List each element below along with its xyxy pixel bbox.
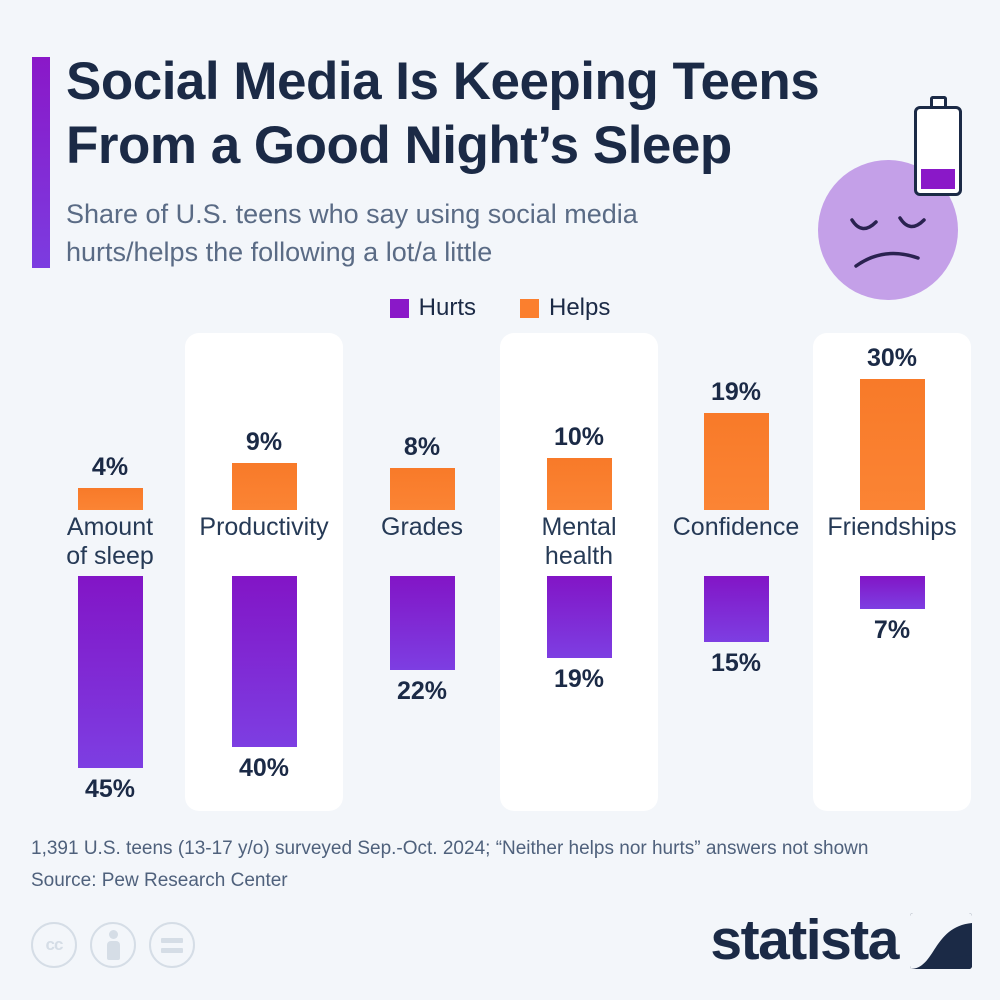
page-subtitle: Share of U.S. teens who say using social…	[66, 195, 796, 271]
helps-value-label: 30%	[867, 343, 917, 373]
helps-bar[interactable]	[390, 468, 455, 510]
helps-bar[interactable]	[704, 413, 769, 510]
hurts-bar[interactable]	[547, 576, 612, 658]
category-label: Friendships	[827, 513, 956, 542]
category-label-zone: Mental health	[500, 513, 658, 575]
helps-value-label: 10%	[554, 422, 604, 452]
statista-logo[interactable]: statista	[710, 912, 972, 969]
creative-commons-badges: cc	[31, 922, 195, 968]
chart-column-confidence[interactable]: 19% Confidence 15%	[657, 333, 815, 811]
chart-legend: Hurts Helps	[0, 294, 1000, 322]
subtitle-line-1: Share of U.S. teens who say using social…	[66, 195, 796, 233]
helps-zone: 19%	[657, 333, 815, 510]
hurts-value-label: 45%	[85, 774, 135, 804]
page-title: Social Media Is Keeping Teens From a Goo…	[66, 50, 916, 178]
hurts-bar[interactable]	[232, 576, 297, 747]
cc-icon[interactable]: cc	[31, 922, 77, 968]
title-accent-bar	[32, 57, 50, 268]
category-label: Productivity	[199, 513, 328, 542]
category-label-zone: Friendships	[813, 513, 971, 575]
legend-label-helps: Helps	[549, 294, 610, 322]
battery-cap-icon	[930, 96, 947, 106]
category-label-zone: Grades	[343, 513, 501, 575]
legend-swatch-helps-icon	[520, 299, 539, 318]
helps-bar[interactable]	[78, 488, 143, 510]
legend-label-hurts: Hurts	[419, 294, 476, 322]
category-label: Amount of sleep	[66, 513, 154, 571]
statista-wordmark: statista	[710, 912, 898, 969]
statista-mark-icon	[910, 913, 972, 969]
hurts-value-label: 40%	[239, 753, 289, 783]
category-label-zone: Confidence	[657, 513, 815, 575]
helps-bar[interactable]	[232, 463, 297, 510]
helps-bar[interactable]	[860, 379, 925, 510]
chart-column-amount-of-sleep[interactable]: 4% Amount of sleep 45%	[31, 333, 189, 811]
category-label: Mental health	[541, 513, 616, 571]
cc-by-attribution-icon[interactable]	[90, 922, 136, 968]
footnote: 1,391 U.S. teens (13-17 y/o) surveyed Se…	[31, 833, 981, 897]
hurts-value-label: 15%	[711, 648, 761, 678]
footnote-line-1: 1,391 U.S. teens (13-17 y/o) surveyed Se…	[31, 833, 981, 865]
hurts-value-label: 19%	[554, 664, 604, 694]
category-label: Confidence	[673, 513, 799, 542]
helps-zone: 30%	[813, 333, 971, 510]
category-label-zone: Productivity	[185, 513, 343, 575]
hurts-bar[interactable]	[78, 576, 143, 768]
helps-zone: 10%	[500, 333, 658, 510]
title-line-1: Social Media Is Keeping Teens	[66, 50, 916, 114]
illustration	[808, 100, 998, 300]
helps-value-label: 4%	[92, 452, 128, 482]
category-label-zone: Amount of sleep	[31, 513, 189, 575]
legend-item-hurts[interactable]: Hurts	[390, 294, 476, 322]
helps-value-label: 19%	[711, 377, 761, 407]
chart-column-friendships[interactable]: 30% Friendships 7%	[813, 333, 971, 811]
hurts-value-label: 7%	[874, 615, 910, 645]
cc-nd-no-derivatives-icon[interactable]	[149, 922, 195, 968]
helps-zone: 4%	[31, 333, 189, 510]
chart-column-mental-health[interactable]: 10% Mental health 19%	[500, 333, 658, 811]
hurts-value-label: 22%	[397, 676, 447, 706]
footnote-source: Source: Pew Research Center	[31, 865, 981, 897]
chart-column-grades[interactable]: 8% Grades 22%	[343, 333, 501, 811]
cc-icon-text: cc	[46, 935, 63, 955]
person-head-shape	[109, 930, 118, 939]
infographic-root: Social Media Is Keeping Teens From a Goo…	[0, 0, 1000, 1000]
chart-column-productivity[interactable]: 9% Productivity 40%	[185, 333, 343, 811]
battery-fill	[921, 169, 955, 189]
helps-value-label: 9%	[246, 427, 282, 457]
legend-swatch-hurts-icon	[390, 299, 409, 318]
helps-zone: 9%	[185, 333, 343, 510]
helps-zone: 8%	[343, 333, 501, 510]
helps-value-label: 8%	[404, 432, 440, 462]
bar-chart: 4% Amount of sleep 45% 9%	[0, 333, 1000, 813]
low-battery-icon	[914, 106, 962, 196]
equals-bar-shape	[161, 938, 183, 943]
equals-bar-shape	[161, 948, 183, 953]
hurts-bar[interactable]	[704, 576, 769, 642]
hurts-bar[interactable]	[860, 576, 925, 609]
category-label: Grades	[381, 513, 463, 542]
person-body-shape	[107, 941, 120, 960]
title-line-2: From a Good Night’s Sleep	[66, 114, 916, 178]
subtitle-line-2: hurts/helps the following a lot/a little	[66, 233, 796, 271]
hurts-bar[interactable]	[390, 576, 455, 670]
legend-item-helps[interactable]: Helps	[520, 294, 610, 322]
helps-bar[interactable]	[547, 458, 612, 510]
